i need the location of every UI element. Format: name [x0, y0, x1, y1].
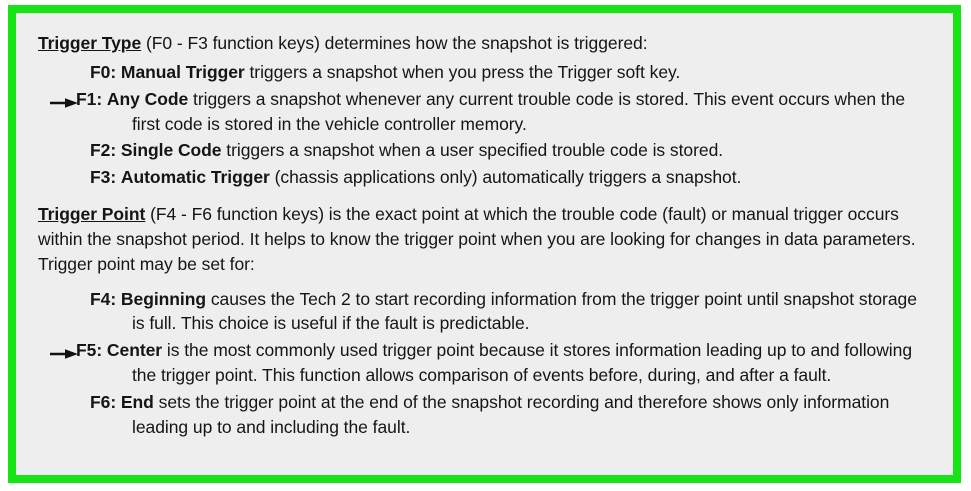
- heading-term-trigger-type: Trigger Type: [38, 33, 141, 53]
- heading-rest-trigger-point: (F4 - F6 function keys) is the exact poi…: [38, 204, 916, 274]
- section-divider-spacer: [38, 192, 931, 202]
- fkey-label-f0: F0:: [90, 62, 116, 82]
- document-panel: Trigger Type (F0 - F3 function keys) det…: [16, 13, 953, 475]
- list-item-f5: F5: Center is the most commonly used tri…: [38, 338, 931, 388]
- desc-f2: triggers a snapshot when a user specifie…: [222, 140, 724, 160]
- list-item-f3: F3: Automatic Trigger (chassis applicati…: [38, 165, 931, 190]
- document-body: Trigger Type (F0 - F3 function keys) det…: [38, 31, 931, 440]
- heading-rest-trigger-type: (F0 - F3 function keys) determines how t…: [141, 33, 647, 53]
- term-f1: Any Code: [107, 89, 188, 109]
- green-frame-border: Trigger Type (F0 - F3 function keys) det…: [8, 5, 961, 483]
- desc-f6: sets the trigger point at the end of the…: [132, 392, 889, 437]
- term-f6: End: [121, 392, 154, 412]
- fkey-label-f6: F6:: [90, 392, 116, 412]
- desc-f3: (chassis applications only) automaticall…: [270, 167, 742, 187]
- desc-f4: causes the Tech 2 to start recording inf…: [132, 289, 917, 334]
- fkey-label-f1: F1:: [76, 89, 102, 109]
- fkey-label-f2: F2:: [90, 140, 116, 160]
- term-f2: Single Code: [121, 140, 222, 160]
- list-item-f0: F0: Manual Trigger triggers a snapshot w…: [38, 60, 931, 85]
- term-f4: Beginning: [121, 289, 206, 309]
- list-item-f2: F2: Single Code triggers a snapshot when…: [38, 138, 931, 163]
- list-item-f6: F6: End sets the trigger point at the en…: [38, 390, 931, 440]
- desc-f5: is the most commonly used trigger point …: [132, 340, 912, 385]
- heading-term-trigger-point: Trigger Point: [38, 204, 145, 224]
- section-heading-trigger-type: Trigger Type (F0 - F3 function keys) det…: [38, 31, 931, 56]
- term-f0: Manual Trigger: [121, 62, 245, 82]
- term-f5: Center: [107, 340, 162, 360]
- fkey-label-f3: F3:: [90, 167, 116, 187]
- term-f3: Automatic Trigger: [121, 167, 270, 187]
- list-item-f1: F1: Any Code triggers a snapshot wheneve…: [38, 87, 931, 137]
- fkey-label-f4: F4:: [90, 289, 116, 309]
- list-item-f4: F4: Beginning causes the Tech 2 to start…: [38, 287, 931, 337]
- fkey-label-f5: F5:: [76, 340, 102, 360]
- desc-f1: triggers a snapshot whenever any current…: [132, 89, 905, 134]
- section-heading-trigger-point: Trigger Point (F4 - F6 function keys) is…: [38, 202, 931, 277]
- page-root: Trigger Type (F0 - F3 function keys) det…: [0, 0, 971, 491]
- desc-f0: triggers a snapshot when you press the T…: [245, 62, 681, 82]
